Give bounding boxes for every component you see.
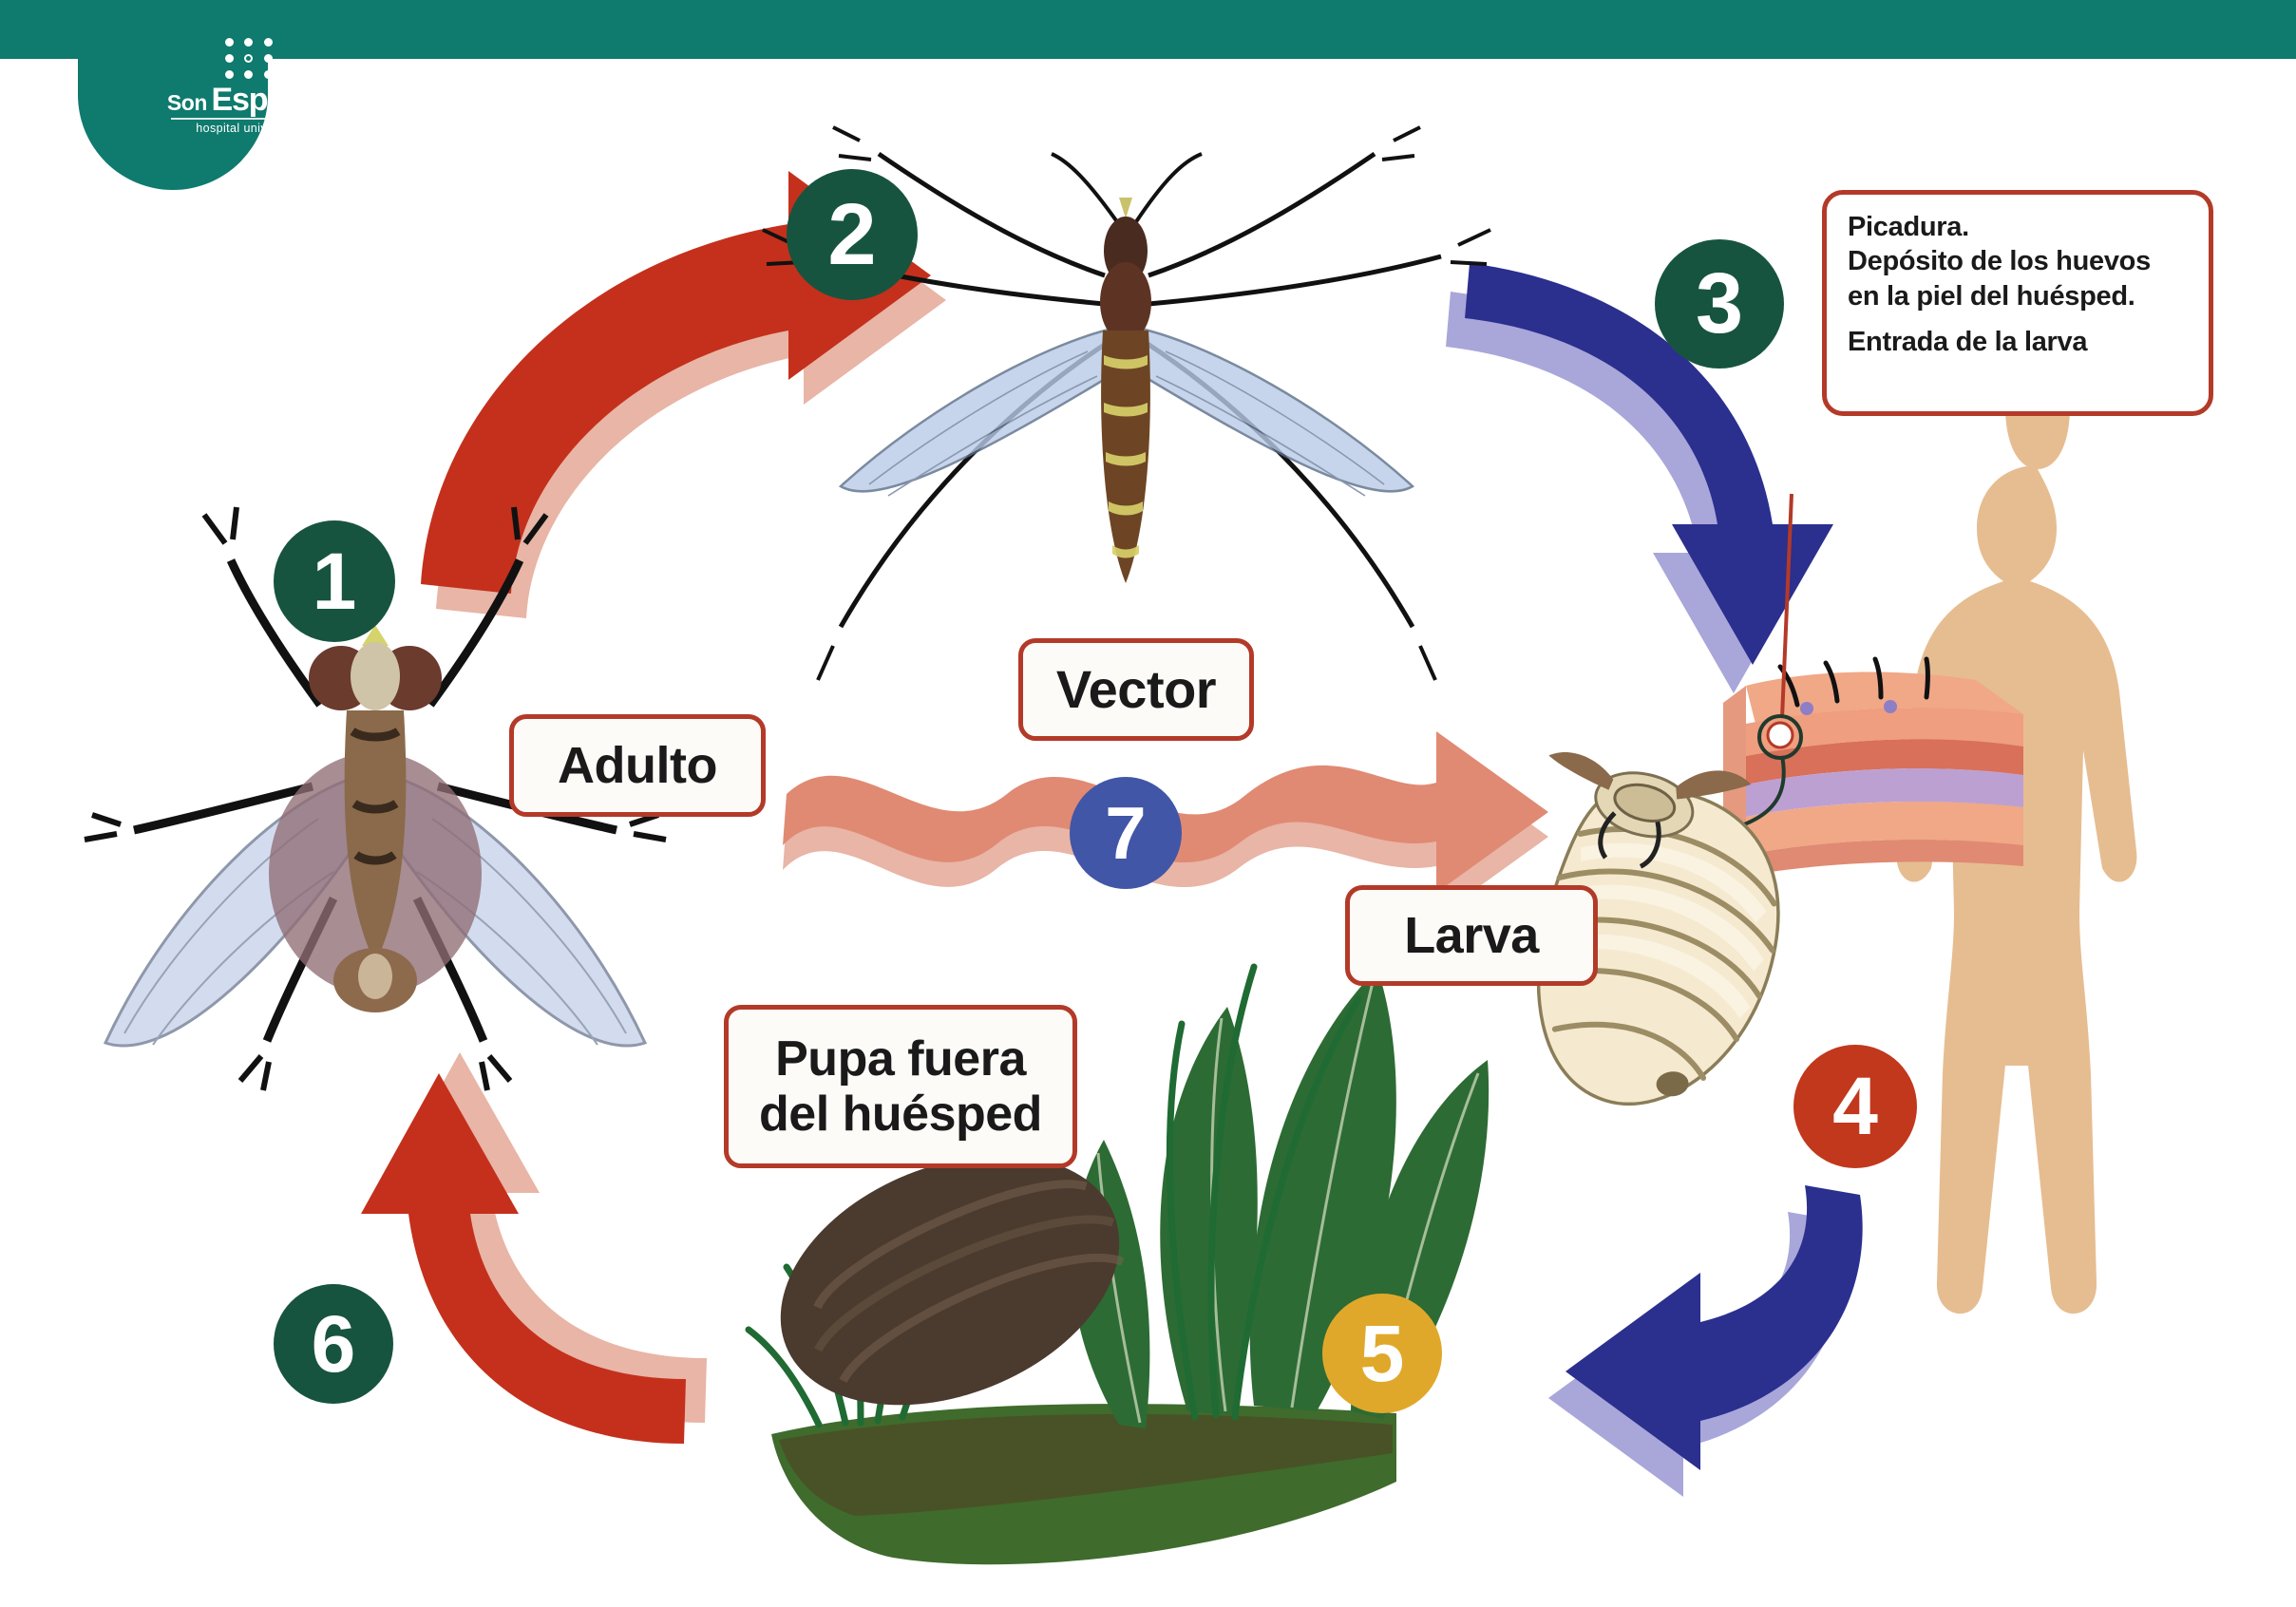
label-larva[interactable]: Larva <box>1345 885 1598 986</box>
callout-line4: Entrada de la larva <box>1848 327 2087 357</box>
label-vector[interactable]: Vector <box>1018 638 1254 741</box>
step-badge-2-label: 2 <box>827 191 876 278</box>
label-adulto[interactable]: Adulto <box>509 714 766 817</box>
step-badge-1-label: 1 <box>313 541 357 621</box>
step-badge-1[interactable]: 1 <box>274 520 395 642</box>
step-badge-7-label: 7 <box>1105 796 1146 870</box>
label-adulto-text: Adulto <box>558 737 717 794</box>
callout-spacer <box>1848 313 2190 325</box>
callout-picadura[interactable]: Picadura. Depósito de los huevos en la p… <box>1822 190 2213 416</box>
step-badge-5-label: 5 <box>1360 1314 1405 1393</box>
step-badge-4[interactable]: 4 <box>1793 1045 1917 1168</box>
step-badge-7[interactable]: 7 <box>1070 777 1182 889</box>
step-badge-2[interactable]: 2 <box>787 169 918 300</box>
label-pupa-line1: Pupa fuera <box>775 1031 1026 1087</box>
step-badge-4-label: 4 <box>1832 1066 1878 1147</box>
callout-line2: Depósito de los huevos <box>1848 246 2151 276</box>
label-pupa[interactable]: Pupa fuera del huésped <box>724 1005 1077 1168</box>
step-badge-3[interactable]: 3 <box>1655 239 1784 369</box>
step-badge-3-label: 3 <box>1696 261 1743 347</box>
label-pupa-line2: del huésped <box>759 1087 1042 1142</box>
label-larva-text: Larva <box>1404 907 1539 964</box>
callout-line3: en la piel del huésped. <box>1848 281 2135 312</box>
skin-cross-section-illustration <box>1704 494 2023 876</box>
label-vector-text: Vector <box>1056 660 1216 720</box>
step-badge-5[interactable]: 5 <box>1322 1294 1442 1413</box>
step-badge-6-label: 6 <box>312 1304 356 1384</box>
step-badge-6[interactable]: 6 <box>274 1284 393 1404</box>
callout-line1: Picadura. <box>1848 212 1969 242</box>
